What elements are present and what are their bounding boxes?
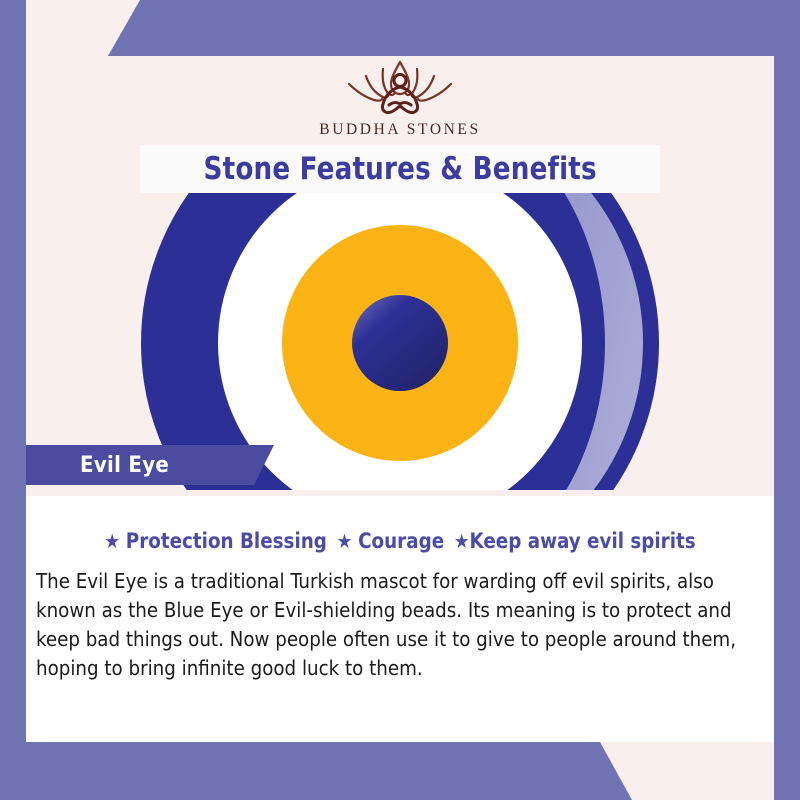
feature-item-protection-blessing: ★Protection Blessing [104,529,327,553]
frame-band-right [774,56,800,800]
lotus-meditation-figure-icon [325,58,475,120]
star-icon: ★ [454,529,470,553]
stone-name-label: Evil Eye [80,453,169,478]
feature-label-1: Courage [358,529,444,553]
description-text: The Evil Eye is a traditional Turkish ma… [36,567,757,683]
description-panel: ★Protection Blessing★Courage★Keep away e… [26,496,774,742]
page-title: Stone Features & Benefits [203,151,596,187]
title-banner: Stone Features & Benefits [140,145,660,193]
feature-item-courage: ★Courage [337,529,445,553]
star-icon: ★ [104,529,120,553]
star-icon: ★ [337,529,353,553]
feature-label-2: Keep away evil spirits [470,529,696,553]
feature-list: ★Protection Blessing★Courage★Keep away e… [37,529,763,553]
frame-band-top [0,0,800,56]
frame-band-left [0,0,26,760]
infographic-page: BUDDHA STONES Stone Features & Benefits [0,0,800,800]
feature-item-keep-away-evil-spirits: ★Keep away evil spirits [454,529,696,553]
brand-logo: BUDDHA STONES [26,56,774,146]
content-card: BUDDHA STONES Stone Features & Benefits [26,56,774,742]
stone-name-badge: Evil Eye [26,445,274,485]
brand-name: BUDDHA STONES [319,121,480,139]
frame-band-bottom [0,742,800,800]
feature-label-0: Protection Blessing [126,529,327,553]
